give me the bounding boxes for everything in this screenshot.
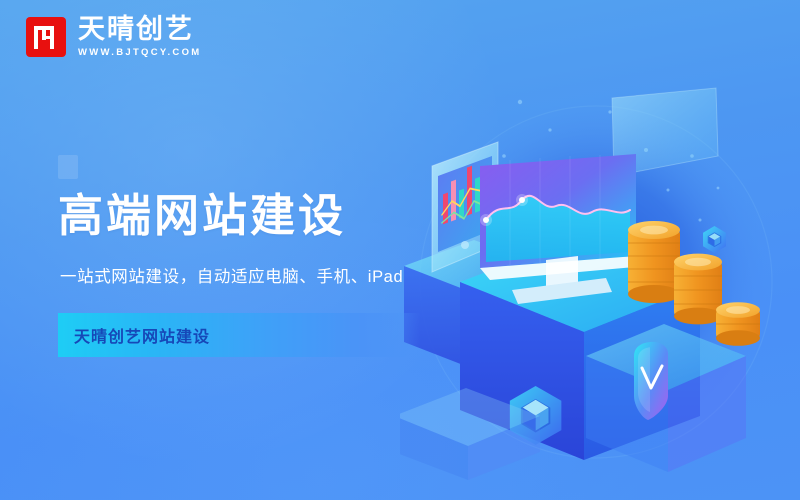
- decorative-accent-square: [58, 155, 78, 179]
- tianqing-logo-mark-icon: [26, 17, 66, 57]
- site-logo[interactable]: 天晴创艺 WWW.BJTQCY.COM: [26, 16, 202, 58]
- logo-website-url: WWW.BJTQCY.COM: [78, 48, 202, 58]
- hero-subtitle: 一站式网站建设，自动适应电脑、手机、iPad: [60, 263, 488, 287]
- hero-copy-block: 高端网站建设 一站式网站建设，自动适应电脑、手机、iPad 天晴创艺网站建设: [58, 155, 488, 357]
- hero-banner: 天晴创艺 WWW.BJTQCY.COM 高端网站建设 一站式网站建设，自动适应电…: [0, 0, 800, 500]
- cta-button[interactable]: 天晴创艺网站建设: [58, 313, 420, 357]
- logo-text-block: 天晴创艺 WWW.BJTQCY.COM: [78, 16, 202, 58]
- logo-company-name: 天晴创艺: [78, 16, 202, 43]
- page-title: 高端网站建设: [58, 191, 488, 241]
